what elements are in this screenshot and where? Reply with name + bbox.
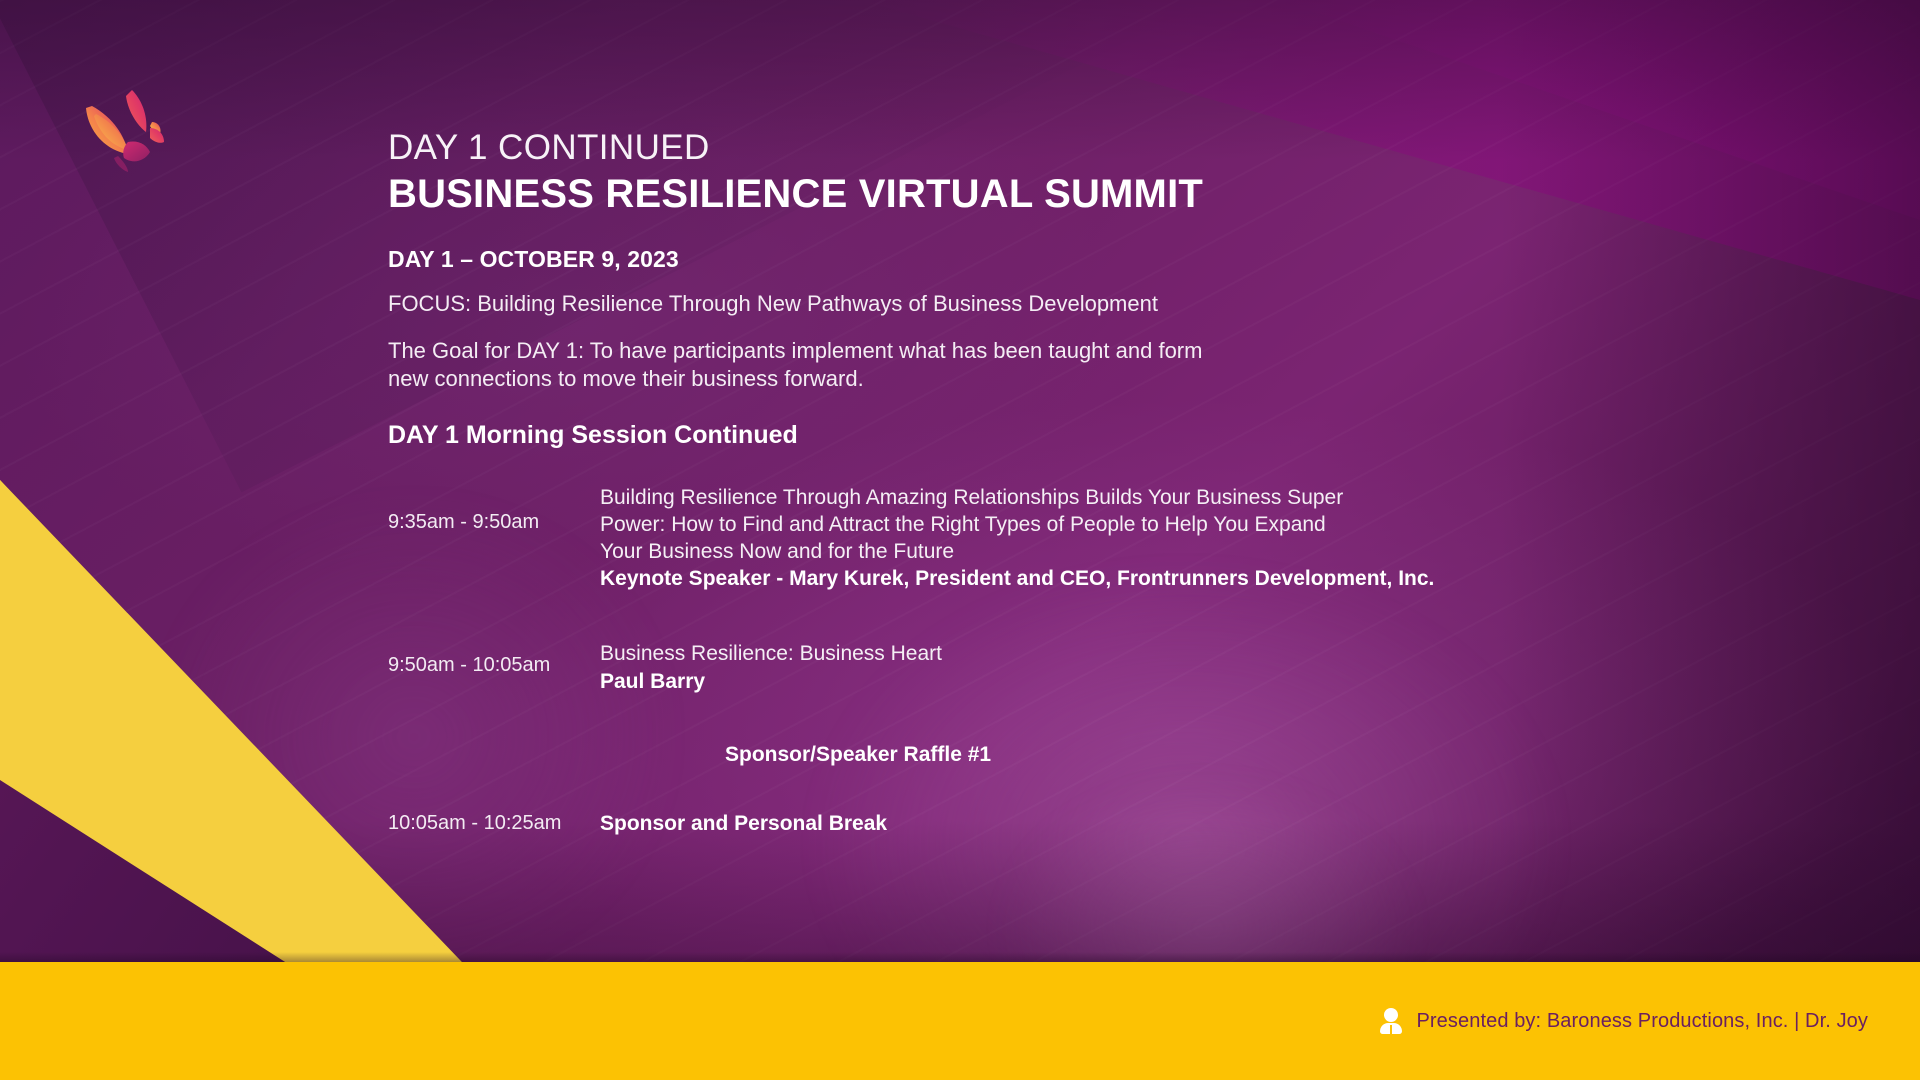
schedule-row: 9:50am - 10:05am Business Resilience: Bu… [388, 640, 1668, 695]
page-title: BUSINESS RESILIENCE VIRTUAL SUMMIT [388, 171, 1668, 218]
schedule-row: Sponsor/Speaker Raffle #1 [388, 743, 1668, 767]
slide-content: DAY 1 CONTINUED BUSINESS RESILIENCE VIRT… [388, 128, 1668, 838]
day-date-label: DAY 1 – OCTOBER 9, 2023 [388, 246, 1668, 273]
session-heading: DAY 1 Morning Session Continued [388, 421, 1668, 450]
kicker-day-continued: DAY 1 CONTINUED [388, 128, 1668, 169]
schedule-row-time: 9:50am - 10:05am [388, 640, 600, 677]
person-icon-head [1384, 1008, 1398, 1022]
phoenix-bird-logo [78, 82, 178, 172]
schedule-row-description: Business Resilience: Business Heart Paul… [600, 640, 1668, 695]
goal-line-2: new connections to move their business f… [388, 365, 1668, 393]
goal-line-1: The Goal for DAY 1: To have participants… [388, 337, 1668, 365]
schedule-row-line: Business Resilience: Business Heart [600, 640, 1668, 667]
schedule-list: 9:35am - 9:50am Building Resilience Thro… [388, 484, 1668, 838]
footer-credit-text: Presented by: Baroness Productions, Inc.… [1416, 1010, 1868, 1033]
schedule-row-speaker: Paul Barry [600, 668, 1668, 696]
schedule-row-description: Sponsor and Personal Break [600, 810, 1668, 838]
schedule-row-description: Building Resilience Through Amazing Rela… [600, 484, 1668, 593]
focus-statement: FOCUS: Building Resilience Through New P… [388, 291, 1668, 317]
person-icon [1380, 1008, 1402, 1034]
schedule-row-line: Power: How to Find and Attract the Right… [600, 511, 1668, 538]
schedule-row-time: 9:35am - 9:50am [388, 484, 600, 534]
schedule-row-speaker: Sponsor and Personal Break [600, 810, 1668, 838]
schedule-row-line: Your Business Now and for the Future [600, 538, 1668, 565]
schedule-row-time: 10:05am - 10:25am [388, 810, 600, 835]
schedule-row: 9:35am - 9:50am Building Resilience Thro… [388, 484, 1668, 593]
schedule-row-line: Building Resilience Through Amazing Rela… [600, 484, 1668, 511]
person-icon-notch [1390, 1025, 1392, 1034]
footer-top-shadow [0, 952, 1920, 962]
schedule-row-speaker: Keynote Speaker - Mary Kurek, President … [600, 565, 1668, 593]
footer-credit: Presented by: Baroness Productions, Inc.… [1380, 962, 1868, 1080]
goal-statement: The Goal for DAY 1: To have participants… [388, 337, 1668, 393]
schedule-row: 10:05am - 10:25am Sponsor and Personal B… [388, 810, 1668, 838]
schedule-row-description: Sponsor/Speaker Raffle #1 [600, 743, 1668, 767]
raffle-label: Sponsor/Speaker Raffle #1 [600, 743, 1668, 767]
